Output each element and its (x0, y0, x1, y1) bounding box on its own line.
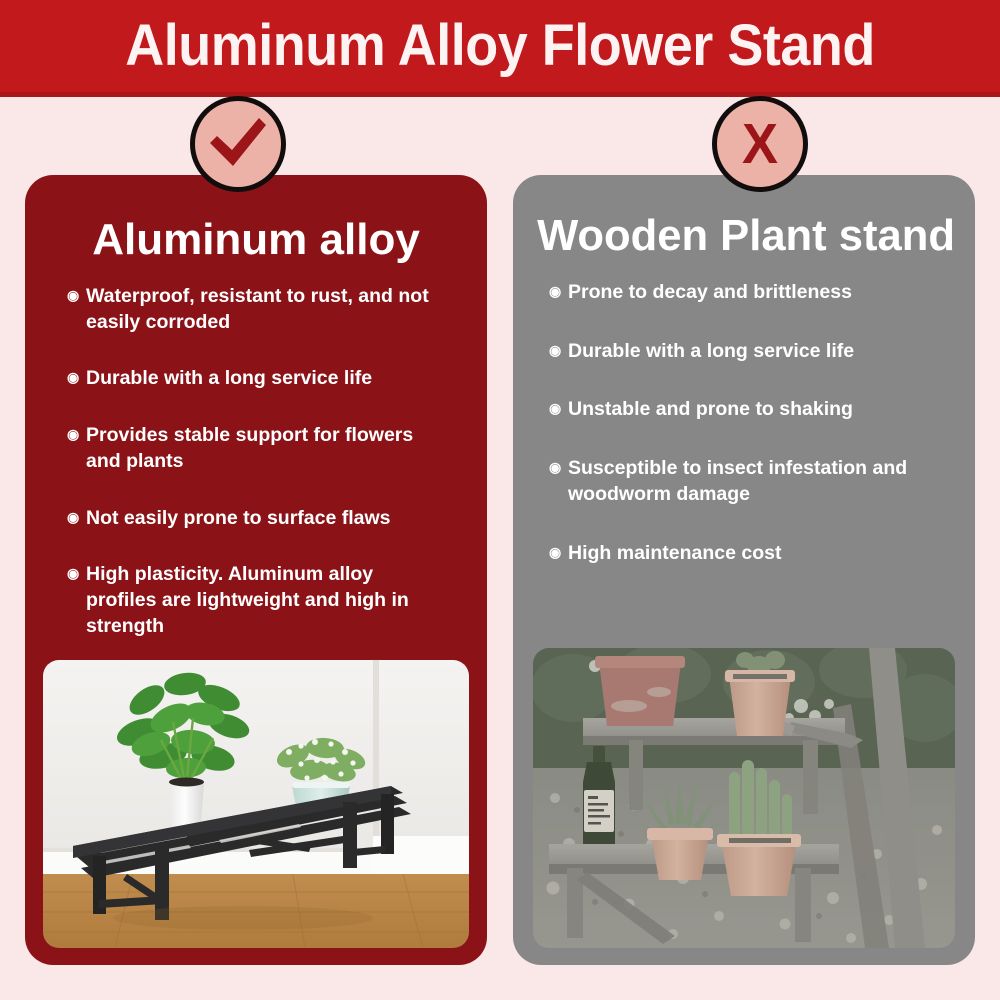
list-item: ◉ Durable with a long service life (535, 339, 953, 365)
list-item: ◉ High plasticity. Aluminum alloy profil… (47, 562, 465, 639)
bullet-dot-icon: ◉ (549, 283, 568, 300)
check-badge (190, 96, 286, 192)
wooden-stand-illustration (533, 648, 955, 948)
cons-bullet-list: ◉ Prone to decay and brittleness ◉ Durab… (535, 280, 953, 566)
list-item-label: Durable with a long service life (568, 339, 949, 365)
bullet-dot-icon: ◉ (67, 287, 86, 304)
bullet-dot-icon: ◉ (549, 459, 568, 476)
aluminum-stand-illustration (43, 660, 469, 948)
list-item: ◉ Waterproof, resistant to rust, and not… (47, 284, 465, 335)
wooden-plant-stand-photo (533, 648, 955, 948)
bullet-dot-icon: ◉ (67, 426, 86, 443)
list-item: ◉ Unstable and prone to shaking (535, 397, 953, 423)
comparison-cards: Aluminum alloy ◉ Waterproof, resistant t… (0, 0, 1000, 1000)
x-mark-icon: X (742, 116, 778, 173)
bullet-dot-icon: ◉ (549, 400, 568, 417)
list-item: ◉ High maintenance cost (535, 541, 953, 567)
list-item-label: Unstable and prone to shaking (568, 397, 949, 423)
list-item-label: High maintenance cost (568, 541, 949, 567)
list-item-label: Waterproof, resistant to rust, and not e… (86, 284, 447, 335)
list-item-label: High plasticity. Aluminum alloy profiles… (86, 562, 447, 639)
list-item: ◉ Prone to decay and brittleness (535, 280, 953, 306)
bullet-dot-icon: ◉ (549, 544, 568, 561)
list-item: ◉ Not easily prone to surface flaws (47, 506, 465, 532)
list-item: ◉ Provides stable support for flowers an… (47, 423, 465, 474)
list-item: ◉ Durable with a long service life (47, 366, 465, 392)
list-item-label: Durable with a long service life (86, 366, 447, 392)
check-mark-icon (207, 116, 269, 172)
list-item: ◉ Susceptible to insect infestation and … (535, 456, 953, 507)
bullet-dot-icon: ◉ (549, 342, 568, 359)
list-item-label: Prone to decay and brittleness (568, 280, 949, 306)
bullet-dot-icon: ◉ (67, 369, 86, 386)
bullet-dot-icon: ◉ (67, 565, 86, 582)
pros-bullet-list: ◉ Waterproof, resistant to rust, and not… (47, 284, 465, 640)
aluminum-flower-stand-photo (43, 660, 469, 948)
list-item-label: Susceptible to insect infestation and wo… (568, 456, 949, 507)
list-item-label: Provides stable support for flowers and … (86, 423, 447, 474)
bullet-dot-icon: ◉ (67, 509, 86, 526)
list-item-label: Not easily prone to surface flaws (86, 506, 447, 532)
cross-badge: X (712, 96, 808, 192)
